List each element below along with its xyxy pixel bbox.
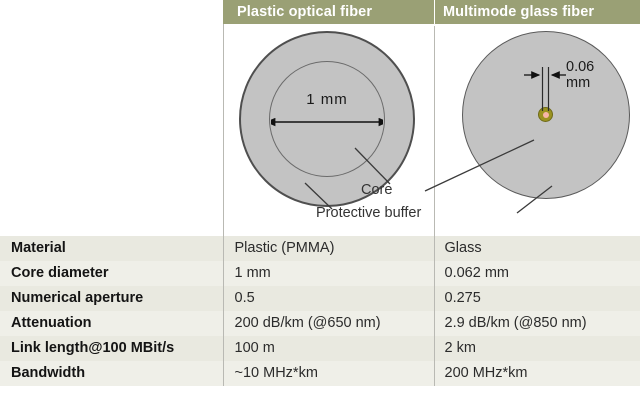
glass-fiber-dimension-arrows <box>462 31 638 207</box>
spec-table-body: Material Plastic (PMMA) Glass Core diame… <box>0 236 640 386</box>
row-value-plastic: 1 mm <box>223 261 434 286</box>
row-value-plastic: 200 dB/km (@650 nm) <box>223 311 434 336</box>
row-value-glass: Glass <box>434 236 640 261</box>
glass-fiber-core-diameter-unit: mm <box>566 75 594 91</box>
row-label: Core diameter <box>0 261 223 286</box>
table-row: Numerical aperture 0.5 0.275 <box>0 286 640 311</box>
row-value-plastic: 100 m <box>223 336 434 361</box>
callout-label-core: Core <box>361 182 392 198</box>
plastic-optical-fiber-cross-section: 1 mm <box>239 31 415 207</box>
fiber-spec-table: Material Plastic (PMMA) Glass Core diame… <box>0 236 640 386</box>
row-value-glass: 2.9 dB/km (@850 nm) <box>434 311 640 336</box>
column-divider-left <box>223 24 224 236</box>
column-header-plastic-optical-fiber: Plastic optical fiber <box>223 0 435 24</box>
glass-fiber-core-diameter-value: 0.06 <box>566 59 594 75</box>
row-value-glass: 200 MHz*km <box>434 361 640 386</box>
row-value-plastic: ~10 MHz*km <box>223 361 434 386</box>
row-value-plastic: 0.5 <box>223 286 434 311</box>
table-row: Link length@100 MBit/s 100 m 2 km <box>0 336 640 361</box>
column-header-plastic-label: Plastic optical fiber <box>237 4 372 20</box>
column-divider-middle <box>434 26 435 236</box>
multimode-glass-fiber-cross-section: 0.06 mm <box>462 31 638 207</box>
plastic-fiber-core-diameter-label: 1 mm <box>239 91 415 108</box>
row-label: Bandwidth <box>0 361 223 386</box>
callout-label-protective-buffer: Protective buffer <box>316 205 421 221</box>
column-header-multimode-glass-fiber: Multimode glass fiber <box>435 0 640 24</box>
row-value-glass: 0.062 mm <box>434 261 640 286</box>
fiber-comparison-figure: Plastic optical fiber Multimode glass fi… <box>0 0 640 406</box>
row-label: Numerical aperture <box>0 286 223 311</box>
table-row: Material Plastic (PMMA) Glass <box>0 236 640 261</box>
row-value-plastic: Plastic (PMMA) <box>223 236 434 261</box>
glass-fiber-core-diameter-label: 0.06 mm <box>566 59 594 91</box>
row-label: Material <box>0 236 223 261</box>
row-value-glass: 2 km <box>434 336 640 361</box>
row-label: Attenuation <box>0 311 223 336</box>
column-header-glass-label: Multimode glass fiber <box>443 4 594 20</box>
row-label: Link length@100 MBit/s <box>0 336 223 361</box>
table-row: Attenuation 200 dB/km (@650 nm) 2.9 dB/k… <box>0 311 640 336</box>
plastic-fiber-diameter-arrow <box>271 117 383 127</box>
row-value-glass: 0.275 <box>434 286 640 311</box>
header-divider <box>434 0 435 24</box>
table-row: Bandwidth ~10 MHz*km 200 MHz*km <box>0 361 640 386</box>
table-row: Core diameter 1 mm 0.062 mm <box>0 261 640 286</box>
